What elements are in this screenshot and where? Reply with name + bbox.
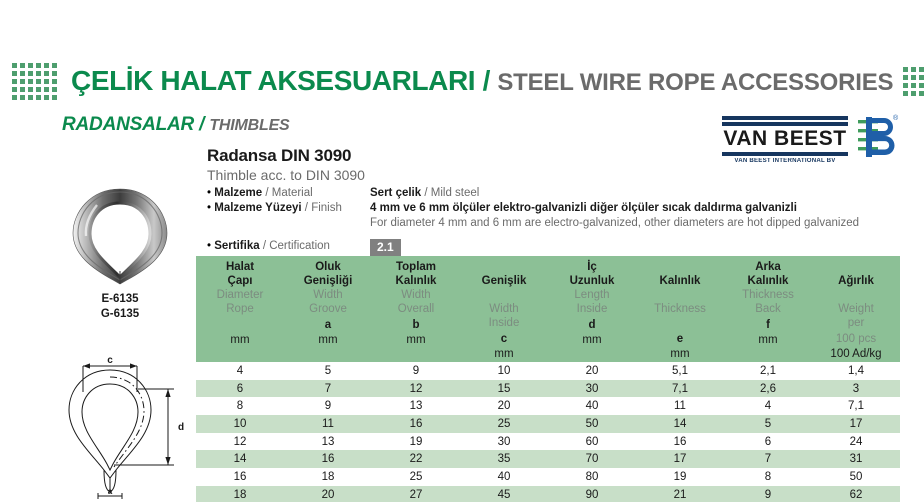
table-cell-r2-c4: 40 [548,400,636,412]
table-row: 161825408019850 [196,468,900,486]
logo-b-monogram-icon: ® [856,112,900,169]
spec-label-certification-tr: Sertifika [214,240,259,252]
table-cell-r1-c4: 30 [548,383,636,395]
table-header-row: HalatÇapıDiameterRope.mmOlukGenişliğiWid… [196,256,900,362]
table-cell-r0-c4: 20 [548,365,636,377]
table-header-dimension-letter: d [548,318,636,332]
decorative-dot-grid-left [12,63,57,100]
table-cell-r4-c4: 60 [548,436,636,448]
table-header-english: Thickness [724,288,812,302]
table-header-turkish: Kalınlık [636,260,724,288]
table-header-turkish: Arka [724,260,812,274]
table-cell-r2-c2: 13 [372,400,460,412]
table-header-english: Inside [460,316,548,330]
spec-value-material-tr: Sert çelik [370,187,421,199]
table-cell-r6-c7: 50 [812,471,900,483]
table-header-english: Inside [548,302,636,316]
table-row: 891320401147,1 [196,397,900,415]
bullet-icon: • [207,187,211,199]
specification-table: HalatÇapıDiameterRope.mmOlukGenişliğiWid… [196,256,900,502]
table-cell-r3-c1: 11 [284,418,372,430]
table-row: 671215307,12,63 [196,380,900,398]
table-cell-r6-c6: 8 [724,471,812,483]
table-cell-r0-c1: 5 [284,365,372,377]
logo-registered-mark: ® [893,114,899,122]
category-subtitle-english: THIMBLES [209,117,289,134]
technical-drawing-thimble: c d a [48,352,198,502]
table-header-turkish: Çapı [196,274,284,288]
table-cell-r6-c2: 25 [372,471,460,483]
spec-label-finish: • Malzeme Yüzeyi / Finish [207,201,370,216]
category-subtitle: RADANSALAR / THIMBLES [62,114,290,136]
table-cell-r6-c3: 40 [460,471,548,483]
decorative-dot-grid-right [903,67,924,96]
table-header-english: Diameter [196,288,284,302]
table-cell-r4-c3: 30 [460,436,548,448]
table-cell-r1-c0: 6 [196,383,284,395]
table-cell-r3-c6: 5 [724,418,812,430]
table-header-cell-3: Genişlik.WidthInsidecmm [460,260,548,360]
table-cell-r1-c1: 7 [284,383,372,395]
table-header-english: per [812,316,900,330]
product-specifications: • Malzeme / Material Sert çelik / Mild s… [207,186,897,256]
table-header-turkish: İç [548,260,636,274]
table-header-english: Weight [812,302,900,316]
table-header-turkish: Oluk [284,260,372,274]
table-cell-r3-c5: 14 [636,418,724,430]
product-subtitle: Thimble acc. to DIN 3090 [207,167,365,183]
table-cell-r4-c2: 19 [372,436,460,448]
table-header-cell-4: İçUzunlukLengthInsidedmm [548,260,636,360]
table-header-unit: mm [636,347,724,361]
table-header-dimension-letter: 100 pcs [812,332,900,346]
table-header-dimension-letter: a [284,318,372,332]
catalog-page: ÇELİK HALAT AKSESUARLARI / STEEL WIRE RO… [0,0,924,502]
table-cell-r5-c3: 35 [460,453,548,465]
table-header-turkish: Kalınlık [372,274,460,288]
table-header-cell-5: Kalınlık.Thickness.emm [636,260,724,360]
spec-value-material: Sert çelik / Mild steel [370,186,479,201]
table-row: 121319306016624 [196,433,900,451]
certification-badge: 2.1 [370,239,401,256]
table-header-english: Thickness [636,302,724,316]
spec-label-material-tr: Malzeme [214,187,262,199]
table-cell-r4-c1: 13 [284,436,372,448]
table-cell-r5-c4: 70 [548,453,636,465]
table-cell-r3-c7: 17 [812,418,900,430]
table-cell-r5-c5: 17 [636,453,724,465]
drawing-label-d: d [178,422,184,433]
table-header-english: Length [548,288,636,302]
table-cell-r6-c0: 16 [196,471,284,483]
table-body: 45910205,12,11,4671215307,12,63891320401… [196,362,900,502]
table-header-turkish: Ağırlık [812,260,900,288]
spec-label-finish-sep: / [305,202,308,214]
table-header-unit: 100 Ad/kg [812,347,900,361]
table-cell-r7-c5: 21 [636,489,724,501]
table-cell-r2-c6: 4 [724,400,812,412]
product-code-g: G-6135 [55,307,185,322]
drawing-label-c: c [107,355,113,366]
spec-label-certification-en: Certification [269,240,330,252]
category-subtitle-turkish: RADANSALAR [62,114,194,135]
product-code-list: E-6135 G-6135 [55,292,185,322]
table-cell-r1-c7: 3 [812,383,900,395]
table-cell-r0-c7: 1,4 [812,365,900,377]
drawing-label-a: a [108,487,113,496]
logo-bar-top [722,116,848,120]
table-cell-r5-c7: 31 [812,453,900,465]
table-cell-r4-c7: 24 [812,436,900,448]
table-cell-r1-c5: 7,1 [636,383,724,395]
table-header-turkish: Toplam [372,260,460,274]
product-title: Radansa DIN 3090 [207,146,351,166]
spec-value-certification: 2.1 [370,239,401,256]
table-cell-r4-c0: 12 [196,436,284,448]
table-header-cell-1: OlukGenişliğiWidthGrooveamm [284,260,372,360]
table-header-turkish: Uzunluk [548,274,636,288]
category-subtitle-separator: / [199,114,204,135]
table-row: 182027459021962 [196,486,900,502]
page-title-separator: / [483,65,490,96]
table-cell-r3-c0: 10 [196,418,284,430]
table-header-cell-6: ArkaKalınlıkThicknessBackfmm [724,260,812,360]
table-cell-r2-c5: 11 [636,400,724,412]
table-cell-r7-c6: 9 [724,489,812,501]
table-header-cell-7: Ağırlık.Weightper100 pcs100 Ad/kg [812,260,900,360]
spec-spacer [207,231,897,239]
table-header-turkish: Halat [196,260,284,274]
table-cell-r7-c7: 62 [812,489,900,501]
bullet-icon: • [207,240,211,252]
table-cell-r5-c2: 22 [372,453,460,465]
table-cell-r3-c2: 16 [372,418,460,430]
spec-value-finish: 4 mm ve 6 mm ölçüler elektro-galvanizli … [370,201,859,231]
spec-row-finish: • Malzeme Yüzeyi / Finish 4 mm ve 6 mm ö… [207,201,897,231]
table-cell-r5-c1: 16 [284,453,372,465]
table-header-unit: mm [724,333,812,347]
table-header-english: Width [460,302,548,316]
table-header-dimension-letter: f [724,318,812,332]
table-header-turkish: Kalınlık [724,274,812,288]
spec-row-material: • Malzeme / Material Sert çelik / Mild s… [207,186,897,201]
table-header-english: Width [372,288,460,302]
table-header-turkish: Genişlik [460,260,548,288]
spec-value-material-en: Mild steel [431,187,480,199]
page-header: ÇELİK HALAT AKSESUARLARI / STEEL WIRE RO… [0,58,924,104]
logo-bar-bottom [722,152,848,156]
logo-bar-second [722,122,848,126]
table-cell-r7-c2: 27 [372,489,460,501]
table-header-english: Overall [372,302,460,316]
spec-label-material-sep: / [265,187,268,199]
table-cell-r6-c1: 18 [284,471,372,483]
table-row: 101116255014517 [196,415,900,433]
page-title-english: STEEL WIRE ROPE ACCESSORIES [497,69,893,96]
table-cell-r5-c6: 7 [724,453,812,465]
spec-value-finish-en: For diameter 4 mm and 6 mm are electro-g… [370,217,859,229]
table-cell-r2-c7: 7,1 [812,400,900,412]
spec-label-certification: • Sertifika / Certification [207,239,370,254]
table-header-english: Groove [284,302,372,316]
table-row: 45910205,12,11,4 [196,362,900,380]
table-cell-r4-c5: 16 [636,436,724,448]
spec-value-finish-tr: 4 mm ve 6 mm ölçüler elektro-galvanizli … [370,202,797,214]
table-cell-r1-c6: 2,6 [724,383,812,395]
table-header-unit: mm [460,347,548,361]
table-cell-r2-c1: 9 [284,400,372,412]
spec-label-certification-sep: / [263,240,266,252]
table-cell-r1-c3: 15 [460,383,548,395]
table-header-cell-2: ToplamKalınlıkWidthOverallbmm [372,260,460,360]
table-cell-r3-c3: 25 [460,418,548,430]
table-cell-r0-c0: 4 [196,365,284,377]
spec-value-material-sep: / [424,187,427,199]
table-cell-r2-c0: 8 [196,400,284,412]
table-header-unit: mm [284,333,372,347]
table-cell-r4-c6: 6 [724,436,812,448]
table-header-unit: mm [372,333,460,347]
table-cell-r0-c3: 10 [460,365,548,377]
spec-label-material-en: Material [272,187,313,199]
logo-tagline: VAN BEEST INTERNATIONAL BV [721,158,850,164]
spec-label-material: • Malzeme / Material [207,186,370,201]
table-cell-r5-c0: 14 [196,453,284,465]
table-row: 141622357017731 [196,450,900,468]
table-header-unit: mm [196,333,284,347]
product-photo-thimble [55,183,185,288]
table-header-english: Back [724,302,812,316]
table-header-english: Rope [196,302,284,316]
table-header-unit: mm [548,333,636,347]
table-header-dimension-letter: e [636,332,724,346]
table-cell-r7-c4: 90 [548,489,636,501]
table-header-english: Width [284,288,372,302]
page-title-turkish: ÇELİK HALAT AKSESUARLARI [71,65,475,96]
table-header-dimension-letter: b [372,318,460,332]
logo-company-name: VAN BEEST [722,128,848,150]
page-title: ÇELİK HALAT AKSESUARLARI / STEEL WIRE RO… [71,67,893,95]
spec-label-finish-en: Finish [311,202,342,214]
table-cell-r6-c5: 19 [636,471,724,483]
table-cell-r0-c5: 5,1 [636,365,724,377]
logo-wordmark: VAN BEEST VAN BEEST INTERNATIONAL BV [722,116,848,164]
table-cell-r3-c4: 50 [548,418,636,430]
table-cell-r0-c2: 9 [372,365,460,377]
spec-label-finish-tr: Malzeme Yüzeyi [214,202,301,214]
table-cell-r1-c2: 12 [372,383,460,395]
table-header-dimension-letter: c [460,332,548,346]
table-header-turkish: Genişliği [284,274,372,288]
product-code-e: E-6135 [55,292,185,307]
table-cell-r7-c0: 18 [196,489,284,501]
table-cell-r7-c3: 45 [460,489,548,501]
table-header-cell-0: HalatÇapıDiameterRope.mm [196,260,284,360]
table-cell-r2-c3: 20 [460,400,548,412]
table-cell-r6-c4: 80 [548,471,636,483]
spec-row-certification: • Sertifika / Certification 2.1 [207,239,897,256]
table-cell-r0-c6: 2,1 [724,365,812,377]
bullet-icon: • [207,202,211,214]
table-cell-r7-c1: 20 [284,489,372,501]
van-beest-logo: VAN BEEST VAN BEEST INTERNATIONAL BV ® [722,116,900,164]
